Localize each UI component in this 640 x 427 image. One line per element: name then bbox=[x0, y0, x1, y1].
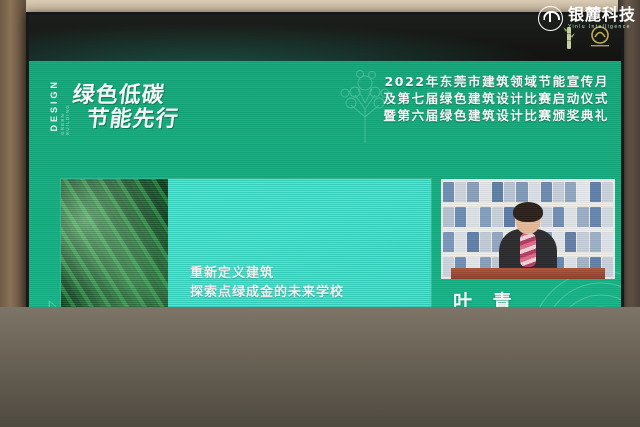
yinlu-wordmark-en: Yinlu Intelligence bbox=[568, 25, 636, 30]
speaker-figure bbox=[497, 205, 559, 271]
yinlu-mark-icon bbox=[538, 6, 563, 31]
event-title-line-2: 及第七届绿色建筑设计比赛启动仪式 bbox=[383, 90, 609, 107]
speaker-hair bbox=[513, 202, 543, 222]
led-green-canvas: DESIGN GREEN BUILDING 绿色低碳 节能先行 2022年东莞市… bbox=[29, 61, 621, 345]
green-low-carbon-banner: DESIGN GREEN BUILDING 绿色低碳 节能先行 bbox=[43, 75, 293, 135]
banner-design-sublabel: GREEN BUILDING bbox=[60, 81, 70, 135]
yinlu-wordmark-cn: 银麓科技 bbox=[568, 7, 636, 23]
led-wall-screen: DESIGN GREEN BUILDING 绿色低碳 节能先行 2022年东莞市… bbox=[26, 12, 624, 348]
slide-title-line-1: 重新定义建筑 bbox=[190, 264, 344, 283]
banner-line-2: 节能先行 bbox=[85, 101, 181, 133]
speaker-scarf bbox=[520, 233, 536, 267]
banner-design-label: DESIGN bbox=[49, 79, 59, 132]
hall-floor bbox=[0, 307, 640, 427]
live-speaker-video bbox=[441, 179, 615, 279]
led-top-rail bbox=[29, 15, 621, 61]
event-title-block: 2022年东莞市建筑领域节能宣传月 及第七届绿色建筑设计比赛启动仪式 暨第六届绿… bbox=[383, 73, 609, 124]
conference-photo-scene: 银麓科技 Yinlu Intelligence bbox=[0, 0, 640, 427]
speaker-desk bbox=[451, 268, 605, 279]
yinlu-technology-logo: 银麓科技 Yinlu Intelligence bbox=[538, 6, 636, 31]
books-row-1 bbox=[443, 182, 613, 202]
event-title-line-3: 暨第六届绿色建筑设计比赛颁奖典礼 bbox=[383, 107, 609, 124]
audience-foreground: 东莞市住房和城乡建设局 绿色建筑设计比赛评审 东莞市住房和城乡建设局 bbox=[0, 307, 640, 427]
yinlu-wordmark: 银麓科技 Yinlu Intelligence bbox=[568, 7, 636, 30]
led-rail-glow bbox=[29, 15, 621, 61]
wall-left-panel bbox=[0, 0, 26, 330]
event-title-line-1: 2022年东莞市建筑领域节能宣传月 bbox=[383, 73, 609, 90]
